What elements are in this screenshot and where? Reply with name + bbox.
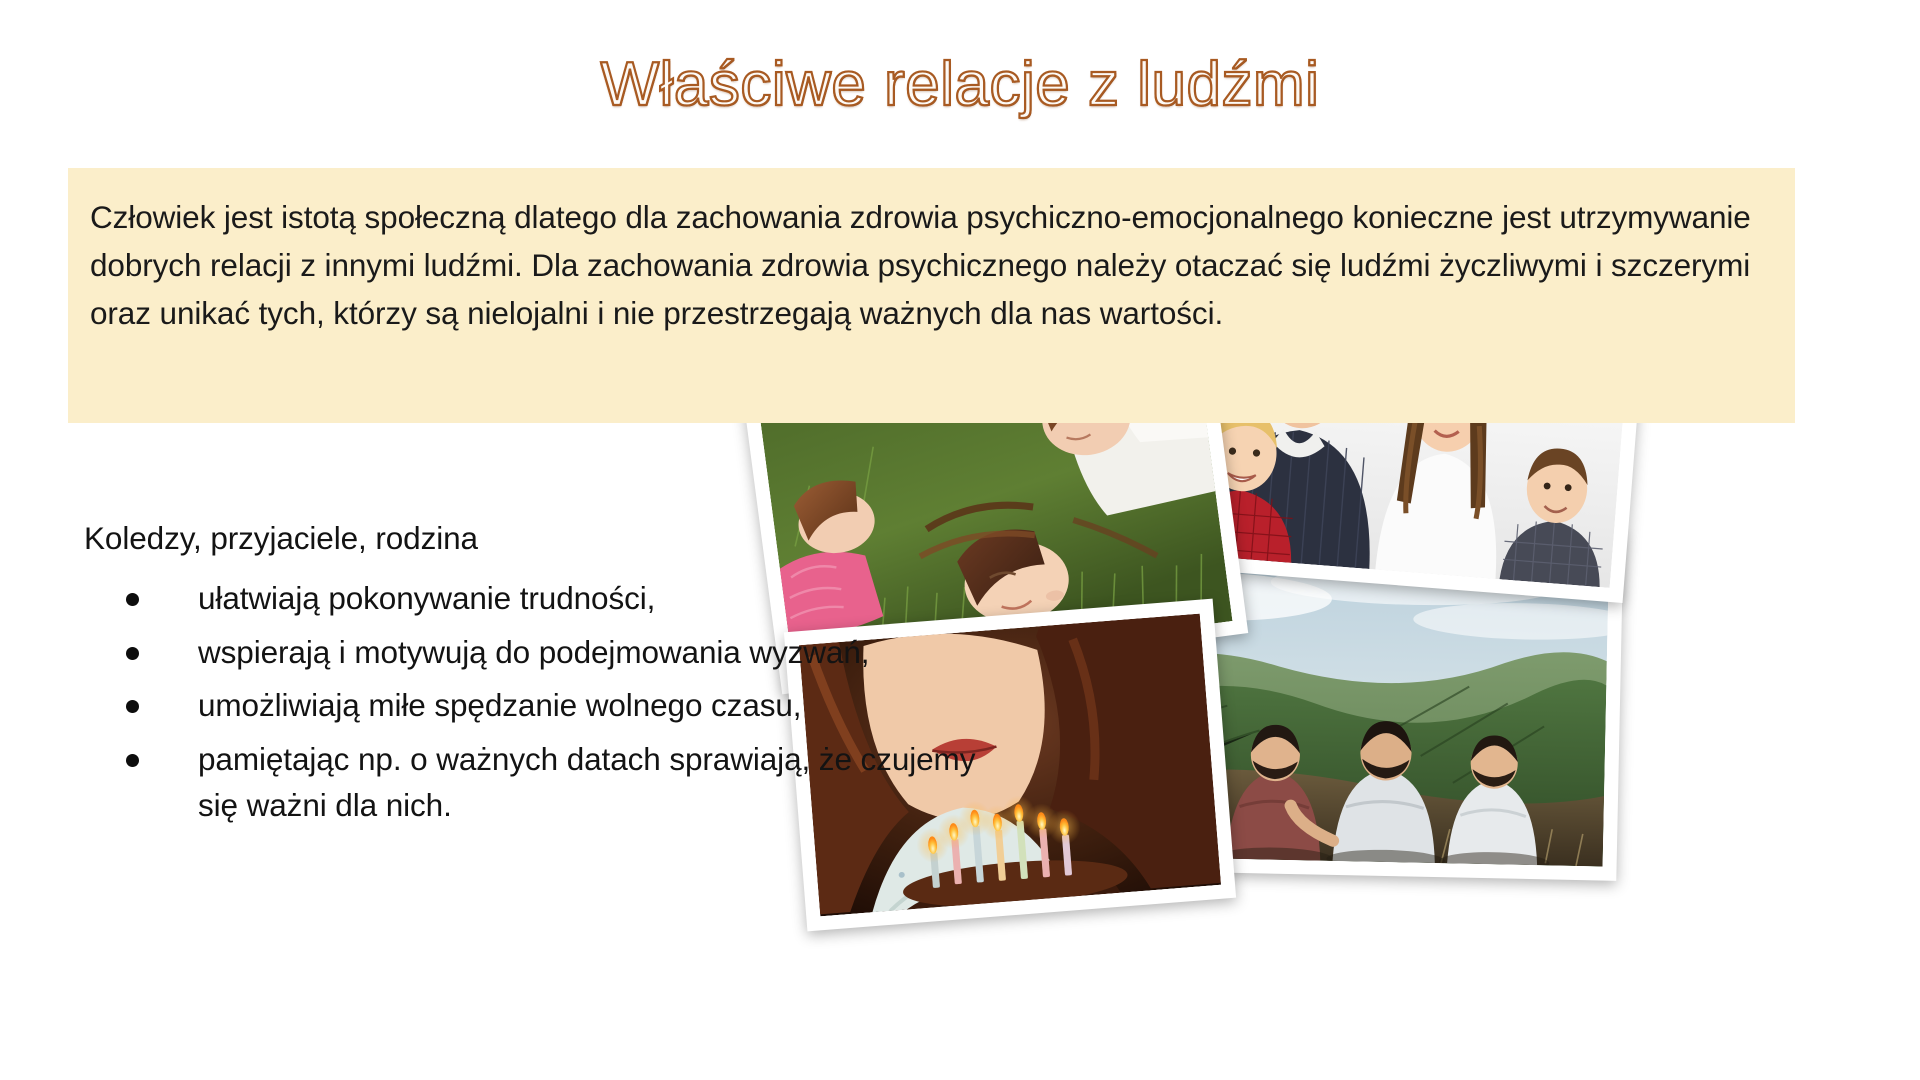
intro-paragraph-text: Człowiek jest istotą społeczną dlatego d…	[90, 194, 1769, 338]
title-container: Właściwe relacje z ludźmi	[0, 52, 1920, 119]
benefits-list: ułatwiają pokonywanie trudności, wspiera…	[84, 576, 1004, 828]
list-item: ułatwiają pokonywanie trudności,	[126, 576, 1004, 622]
list-item-label: umożliwiają miłe spędzanie wolnego czasu…	[198, 687, 801, 723]
list-item: umożliwiają miłe spędzanie wolnego czasu…	[126, 683, 1004, 729]
benefits-list-section: Koledzy, przyjaciele, rodzina ułatwiają …	[84, 516, 1004, 836]
list-item-label: pamiętając np. o ważnych datach sprawiaj…	[198, 741, 975, 823]
page-title: Właściwe relacje z ludźmi	[601, 52, 1320, 119]
list-item: wspierają i motywują do podejmowania wyz…	[126, 630, 1004, 676]
bullet-dot-icon	[126, 754, 139, 767]
bullet-dot-icon	[126, 647, 139, 660]
list-item-label: ułatwiają pokonywanie trudności,	[198, 580, 655, 616]
presentation-slide: Właściwe relacje z ludźmi Człowiek jest …	[0, 0, 1920, 1080]
bullet-dot-icon	[126, 593, 139, 606]
list-intro-label: Koledzy, przyjaciele, rodzina	[84, 516, 1004, 560]
intro-paragraph-box: Człowiek jest istotą społeczną dlatego d…	[68, 168, 1795, 423]
bullet-dot-icon	[126, 700, 139, 713]
list-item: pamiętając np. o ważnych datach sprawiaj…	[126, 737, 1004, 828]
list-item-label: wspierają i motywują do podejmowania wyz…	[198, 634, 869, 670]
